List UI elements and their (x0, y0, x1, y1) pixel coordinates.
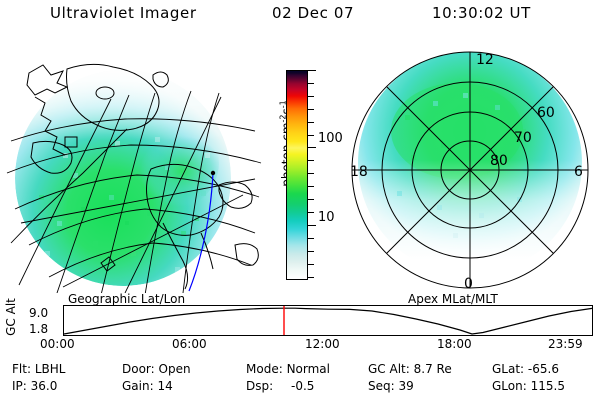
status-gc-alt-label: GC Alt: (368, 362, 410, 376)
colorbar-ticks (308, 70, 316, 280)
status-glat-value: -65.6 (528, 362, 559, 376)
status-gain: Gain: 14 (122, 379, 173, 393)
mlat-ring-label-80: 80 (490, 153, 508, 169)
mlt-label-6: 6 (574, 164, 583, 180)
colorbar-tick-label-100: 100 (318, 132, 343, 145)
status-mode-value: Normal (287, 362, 330, 376)
orbit-xtick-1: 06:00 (172, 337, 207, 351)
status-ip-label: IP: (12, 379, 27, 393)
orbit-altitude-section: Geographic Lat/Lon Apex MLat/MLT GC Alt … (0, 292, 600, 354)
status-glon: GLon: 115.5 (492, 379, 565, 393)
status-mode-label: Mode: (246, 362, 283, 376)
status-seq-value: 39 (399, 379, 414, 393)
orbit-xtick-3: 18:00 (437, 337, 472, 351)
colorbar-gradient[interactable] (286, 70, 308, 280)
status-mode: Mode: Normal (246, 362, 330, 376)
apex-plot-svg: 12 6 0 18 60 70 80 (345, 45, 595, 295)
gc-altitude-track (64, 308, 592, 334)
orbit-xtick-0: 00:00 (40, 337, 75, 351)
status-door-label: Door: (122, 362, 155, 376)
orbit-xtick-4: 23:59 (548, 337, 583, 351)
apex-panel-title: Apex MLat/MLT (408, 292, 498, 306)
status-seq-label: Seq: (368, 379, 395, 393)
orbit-plot-svg (63, 305, 593, 336)
mlt-label-0: 0 (464, 276, 473, 292)
status-gc-alt: GC Alt: 8.7 Re (368, 362, 452, 376)
orbit-xtick-2: 12:00 (305, 337, 340, 351)
status-glat-label: GLat: (492, 362, 524, 376)
colorbar-group: photon cm-2s-1 100 10 (268, 62, 346, 292)
status-door-value: Open (159, 362, 191, 376)
orbit-altitude-plot[interactable] (63, 305, 593, 336)
polar-grid (352, 52, 588, 288)
status-dsp-label: Dsp: (246, 379, 273, 393)
status-door: Door: Open (122, 362, 191, 376)
orbit-ytick-low: 1.8 (29, 322, 48, 336)
header-bar: Ultraviolet Imager 02 Dec 07 10:30:02 UT (0, 4, 600, 32)
status-readout: Flt: LBHL Door: Open Mode: Normal GC Alt… (0, 362, 600, 400)
mlat-ring-label-60: 60 (537, 105, 555, 121)
instrument-title: Ultraviolet Imager (50, 4, 197, 22)
colorbar-fill (287, 71, 307, 279)
status-ip-value: 36.0 (31, 379, 58, 393)
status-dsp: Dsp: -0.5 (246, 379, 314, 393)
orbit-ytick-high: 9.0 (29, 306, 48, 320)
status-flt-value: LBHL (35, 362, 66, 376)
status-flt: Flt: LBHL (12, 362, 65, 376)
observation-date: 02 Dec 07 (272, 4, 354, 22)
mlat-ring-label-70: 70 (514, 130, 532, 146)
geographic-plot-svg (5, 45, 267, 293)
status-flt-label: Flt: (12, 362, 31, 376)
uvi-display-root: Ultraviolet Imager 02 Dec 07 10:30:02 UT (0, 0, 600, 400)
mlt-label-18: 18 (350, 164, 368, 180)
geographic-panel-title: Geographic Lat/Lon (68, 292, 185, 306)
status-ip: IP: 36.0 (12, 379, 57, 393)
mlt-label-12: 12 (476, 52, 494, 68)
subsatellite-point (211, 171, 215, 175)
colorbar-tick-label-10: 10 (318, 211, 335, 224)
orbit-y-axis-label: GC Alt (4, 294, 18, 340)
status-gain-label: Gain: (122, 379, 154, 393)
status-glon-value: 115.5 (531, 379, 565, 393)
status-gain-value: 14 (157, 379, 172, 393)
status-glon-label: GLon: (492, 379, 527, 393)
status-glat: GLat: -65.6 (492, 362, 559, 376)
observation-time: 10:30:02 UT (432, 4, 531, 22)
status-seq: Seq: 39 (368, 379, 414, 393)
status-dsp-value: -0.5 (291, 379, 314, 393)
apex-image-panel[interactable]: 12 6 0 18 60 70 80 (345, 45, 595, 295)
geographic-image-panel[interactable] (5, 45, 267, 293)
status-gc-alt-value: 8.7 Re (414, 362, 452, 376)
